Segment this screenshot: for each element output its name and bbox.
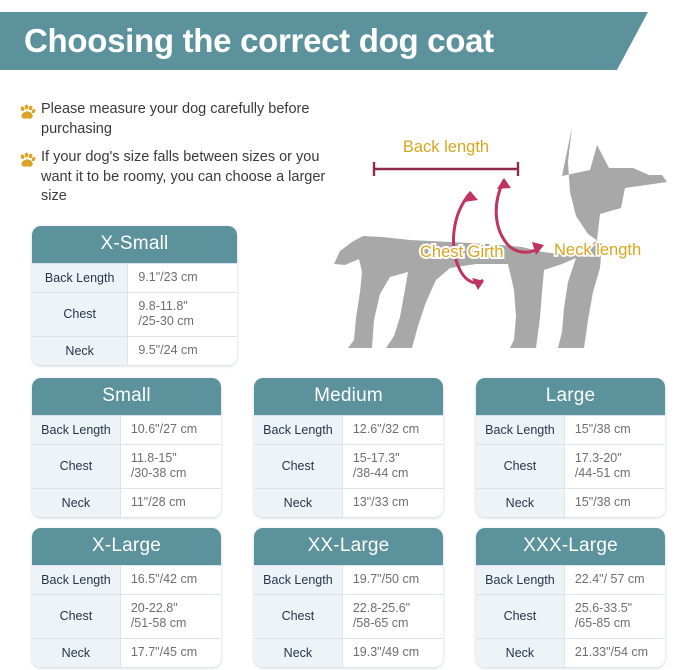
size-table-x-large: X-Large Back Length 16.5"/42 cm Chest 20… (32, 528, 221, 667)
row-value: 19.3"/49 cm (343, 639, 443, 667)
row-label: Neck (254, 489, 343, 517)
row-value: 11.8-15" /30-38 cm (121, 445, 221, 488)
row-label: Back Length (476, 416, 565, 444)
row-value: 11"/28 cm (121, 489, 221, 517)
neck-length-measure (496, 180, 539, 252)
row-value: 25.6-33.5" /65-85 cm (565, 595, 665, 638)
table-row: Back Length 12.6"/32 cm (254, 415, 443, 444)
size-table-x-small: X-Small Back Length 9.1"/23 cm Chest 9.8… (32, 226, 237, 365)
header-banner: Choosing the correct dog coat (0, 12, 679, 70)
table-row: Neck 13"/33 cm (254, 488, 443, 517)
size-table-header: Medium (254, 378, 443, 415)
diagram-svg: Back length Chest Girth Neck length (300, 112, 679, 360)
instruction-text: Please measure your dog carefully before… (41, 100, 338, 139)
row-value: 15"/38 cm (565, 489, 665, 517)
neck-length-arrowhead-top (497, 178, 511, 189)
row-value: 19.7"/50 cm (343, 566, 443, 594)
dog-coat-size-chart: Choosing the correct dog coat Please mea… (0, 0, 679, 670)
row-value: 15-17.3" /38-44 cm (343, 445, 443, 488)
dog-silhouette (334, 127, 667, 348)
size-table-header: Large (476, 378, 665, 415)
row-label: Chest (32, 293, 128, 336)
size-table-large: Large Back Length 15"/38 cm Chest 17.3-2… (476, 378, 665, 517)
row-value: 9.1"/23 cm (128, 264, 237, 292)
page-title: Choosing the correct dog coat (0, 22, 494, 60)
size-table-header: XXX-Large (476, 528, 665, 565)
dog-measurement-diagram: Back length Chest Girth Neck length (300, 112, 679, 360)
row-label: Neck (476, 489, 565, 517)
row-label: Chest (476, 595, 565, 638)
row-label: Chest (32, 445, 121, 488)
row-label: Neck (32, 489, 121, 517)
banner-shape: Choosing the correct dog coat (0, 12, 648, 70)
row-label: Chest (476, 445, 565, 488)
row-label: Back Length (32, 566, 121, 594)
row-value: 15"/38 cm (565, 416, 665, 444)
chest-girth-label: Chest Girth (420, 243, 503, 261)
table-row: Neck 9.5"/24 cm (32, 336, 237, 365)
row-label: Back Length (32, 264, 128, 292)
size-table-header: Small (32, 378, 221, 415)
size-table-xxx-large: XXX-Large Back Length 22.4"/ 57 cm Chest… (476, 528, 665, 667)
row-value: 9.5"/24 cm (128, 337, 237, 365)
row-value: 17.3-20" /44-51 cm (565, 445, 665, 488)
table-row: Back Length 10.6"/27 cm (32, 415, 221, 444)
table-row: Neck 17.7"/45 cm (32, 638, 221, 667)
row-label: Neck (32, 337, 128, 365)
row-value: 22.4"/ 57 cm (565, 566, 665, 594)
neck-length-label: Neck length (554, 241, 641, 259)
size-table-small: Small Back Length 10.6"/27 cm Chest 11.8… (32, 378, 221, 517)
back-length-measure (374, 162, 518, 176)
row-label: Back Length (254, 566, 343, 594)
table-row: Neck 19.3"/49 cm (254, 638, 443, 667)
row-label: Neck (254, 639, 343, 667)
size-table-xx-large: XX-Large Back Length 19.7"/50 cm Chest 2… (254, 528, 443, 667)
chest-girth-measure (454, 192, 483, 283)
row-value: 12.6"/32 cm (343, 416, 443, 444)
row-value: 9.8-11.8" /25-30 cm (128, 293, 237, 336)
paw-print-icon (18, 151, 36, 169)
row-label: Neck (32, 639, 121, 667)
row-label: Back Length (476, 566, 565, 594)
table-row: Back Length 22.4"/ 57 cm (476, 565, 665, 594)
instruction-item: Please measure your dog carefully before… (18, 100, 338, 139)
row-label: Back Length (254, 416, 343, 444)
table-row: Chest 15-17.3" /38-44 cm (254, 444, 443, 488)
size-table-header: XX-Large (254, 528, 443, 565)
row-label: Chest (32, 595, 121, 638)
table-row: Neck 11"/28 cm (32, 488, 221, 517)
table-row: Back Length 16.5"/42 cm (32, 565, 221, 594)
row-label: Back Length (32, 416, 121, 444)
table-row: Back Length 15"/38 cm (476, 415, 665, 444)
instructions-list: Please measure your dog carefully before… (18, 100, 338, 216)
table-row: Chest 9.8-11.8" /25-30 cm (32, 292, 237, 336)
back-length-label: Back length (403, 138, 489, 156)
paw-print-icon (18, 103, 36, 121)
row-value: 13"/33 cm (343, 489, 443, 517)
table-row: Neck 15"/38 cm (476, 488, 665, 517)
row-value: 16.5"/42 cm (121, 566, 221, 594)
instruction-text: If your dog's size falls between sizes o… (41, 148, 338, 207)
row-label: Neck (476, 639, 565, 667)
row-value: 10.6"/27 cm (121, 416, 221, 444)
row-value: 20-22.8" /51-58 cm (121, 595, 221, 638)
row-label: Chest (254, 595, 343, 638)
table-row: Neck 21.33"/54 cm (476, 638, 665, 667)
table-row: Back Length 19.7"/50 cm (254, 565, 443, 594)
table-row: Chest 17.3-20" /44-51 cm (476, 444, 665, 488)
table-row: Chest 11.8-15" /30-38 cm (32, 444, 221, 488)
size-table-medium: Medium Back Length 12.6"/32 cm Chest 15-… (254, 378, 443, 517)
table-row: Chest 22.8-25.6" /58-65 cm (254, 594, 443, 638)
size-table-header: X-Small (32, 226, 237, 263)
row-label: Chest (254, 445, 343, 488)
row-value: 22.8-25.6" /58-65 cm (343, 595, 443, 638)
size-table-header: X-Large (32, 528, 221, 565)
table-row: Back Length 9.1"/23 cm (32, 263, 237, 292)
row-value: 17.7"/45 cm (121, 639, 221, 667)
table-row: Chest 25.6-33.5" /65-85 cm (476, 594, 665, 638)
instruction-item: If your dog's size falls between sizes o… (18, 148, 338, 207)
row-value: 21.33"/54 cm (565, 639, 665, 667)
table-row: Chest 20-22.8" /51-58 cm (32, 594, 221, 638)
